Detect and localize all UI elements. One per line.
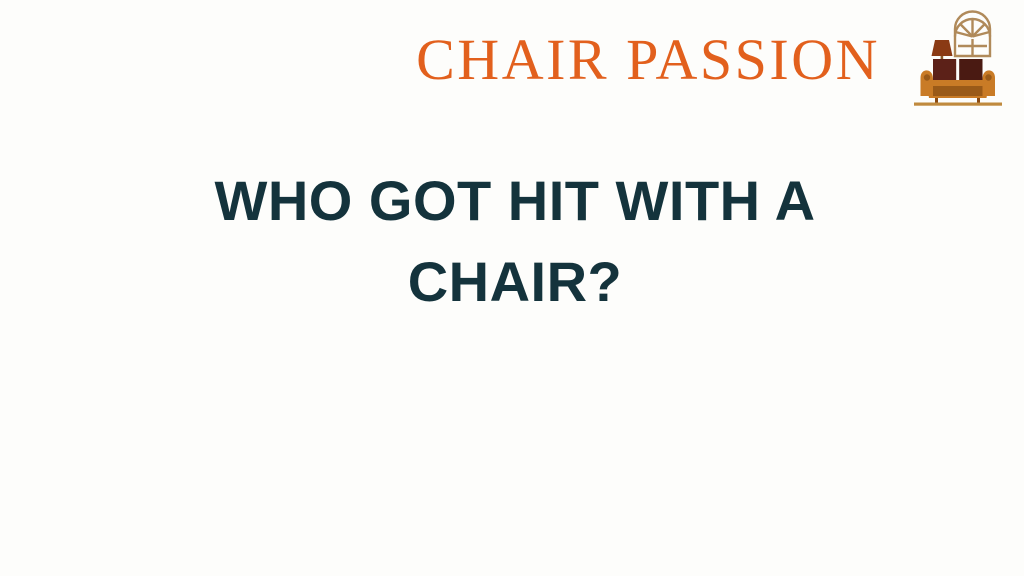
sofa-icon (921, 59, 996, 103)
article-content-area (0, 340, 1024, 576)
headline-section: WHO GOT HIT WITH A CHAIR? (0, 160, 1024, 322)
brand-wordmark[interactable]: CHAIR PASSION (416, 31, 880, 89)
floor-line-icon (914, 103, 1002, 106)
sofa-lamp-window-logo-icon (906, 8, 1010, 112)
window-icon (955, 12, 990, 57)
site-header: CHAIR PASSION (0, 0, 1024, 120)
page-title: WHO GOT HIT WITH A CHAIR? (195, 160, 835, 322)
brand-lockup[interactable]: CHAIR PASSION (416, 8, 1010, 112)
page-root: CHAIR PASSION (0, 0, 1024, 576)
